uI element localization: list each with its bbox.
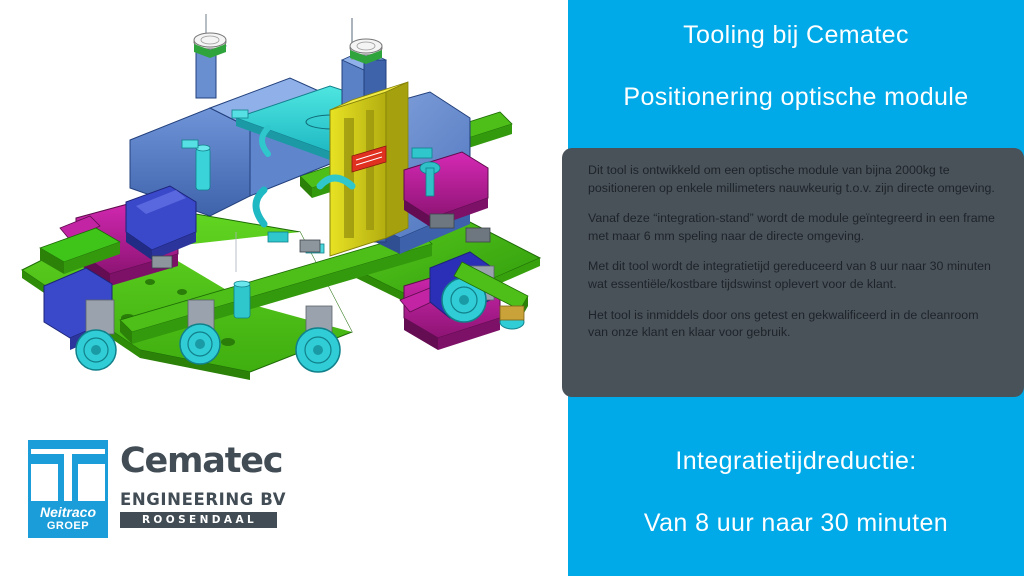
neitraco-mark-icon: Neitraco GROEP xyxy=(28,440,108,538)
highlight-value: Van 8 uur naar 30 minuten xyxy=(644,510,948,538)
cad-illustration xyxy=(0,0,568,420)
highlight-heading: Integratietijdreductie: xyxy=(675,448,916,476)
description-paragraph-4: Het tool is inmiddels door ons getest en… xyxy=(588,307,998,342)
slide: Tooling bij Cematec Positionering optisc… xyxy=(0,0,1024,576)
cematec-name: Cematec xyxy=(120,444,288,479)
page-subtitle: Positionering optische module xyxy=(623,84,968,112)
description-paragraph-2: Vanaf deze “integration-stand” wordt de … xyxy=(588,210,998,245)
roosendaal-label: ROOSENDAAL xyxy=(120,512,277,528)
description-paragraph-3: Met dit tool wordt de integratietijd ger… xyxy=(588,258,998,293)
description-paragraph-1: Dit tool is ontwikkeld om een optische m… xyxy=(588,162,998,197)
title-block: Tooling bij Cematec Positionering optisc… xyxy=(568,0,1024,140)
highlight-block: Integratietijdreductie: Van 8 uur naar 3… xyxy=(568,420,1024,576)
company-logo: Neitraco GROEP Cematec ENGINEERING BV RO… xyxy=(28,440,288,548)
description-panel: Dit tool is ontwikkeld om een optische m… xyxy=(562,148,1024,397)
engineering-label: ENGINEERING BV xyxy=(120,492,288,509)
cematec-wordmark: Cematec ENGINEERING BV ROOSENDAAL xyxy=(120,444,288,528)
page-title: Tooling bij Cematec xyxy=(683,22,909,50)
